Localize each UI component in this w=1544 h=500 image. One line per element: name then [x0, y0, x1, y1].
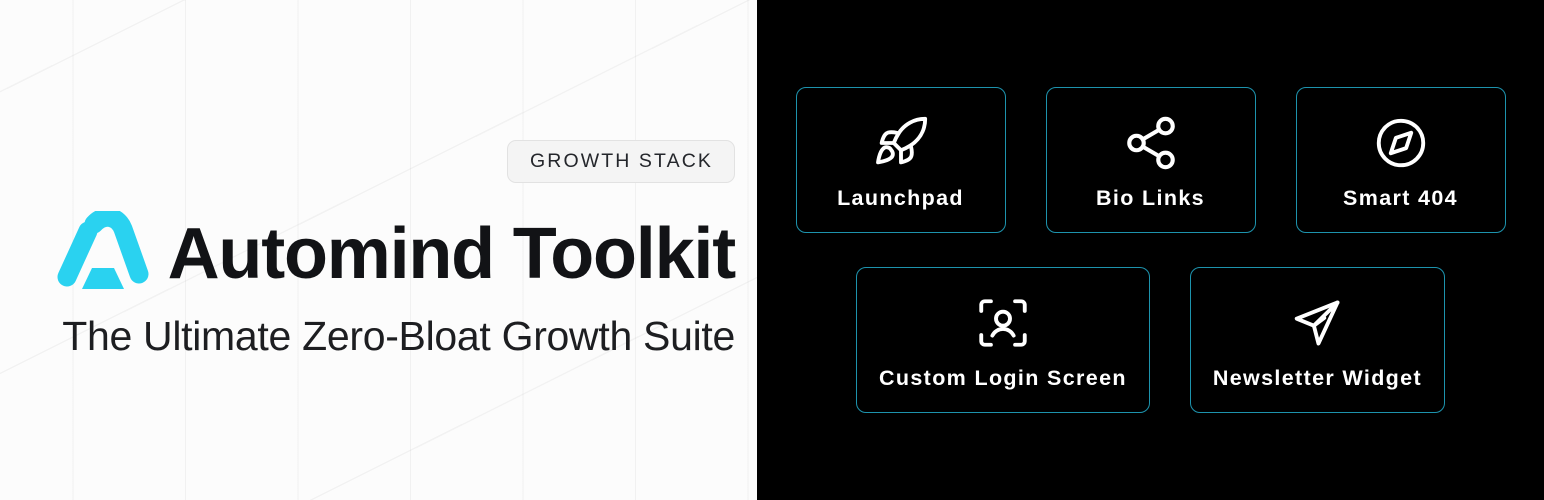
feature-card-label: Bio Links [1096, 188, 1205, 210]
feature-card-custom-login-screen[interactable]: Custom Login Screen [856, 267, 1150, 413]
rocket-icon [872, 114, 930, 172]
feature-card-smart-404[interactable]: Smart 404 [1296, 87, 1506, 233]
page-title: Automind Toolkit [168, 218, 735, 291]
automind-logo-icon [54, 211, 150, 299]
feature-card-launchpad[interactable]: Launchpad [796, 87, 1006, 233]
growth-stack-badge: GROWTH STACK [507, 140, 735, 184]
share-nodes-icon [1122, 114, 1180, 172]
promo-banner: GROWTH STACK Automind Toolkit The Ultima… [0, 0, 1544, 500]
title-row: Automind Toolkit [54, 211, 735, 299]
feature-card-label: Newsletter Widget [1213, 368, 1422, 390]
person-scan-icon [974, 294, 1032, 352]
feature-card-bio-links[interactable]: Bio Links [1046, 87, 1256, 233]
hero-content: GROWTH STACK Automind Toolkit The Ultima… [0, 0, 757, 500]
feature-card-row-1: Launchpad Bio Links Smart 404 [796, 87, 1506, 233]
hero-panel: GROWTH STACK Automind Toolkit The Ultima… [0, 0, 757, 500]
paper-plane-icon [1288, 294, 1346, 352]
compass-icon [1372, 114, 1430, 172]
feature-card-newsletter-widget[interactable]: Newsletter Widget [1190, 267, 1445, 413]
feature-card-label: Smart 404 [1343, 188, 1458, 210]
feature-card-label: Launchpad [837, 188, 964, 210]
feature-card-row-2: Custom Login Screen Newsletter Widget [856, 267, 1445, 413]
features-panel: Launchpad Bio Links Smart 404 [757, 0, 1544, 500]
hero-subtitle: The Ultimate Zero-Bloat Growth Suite [62, 313, 735, 360]
feature-card-label: Custom Login Screen [879, 368, 1127, 390]
